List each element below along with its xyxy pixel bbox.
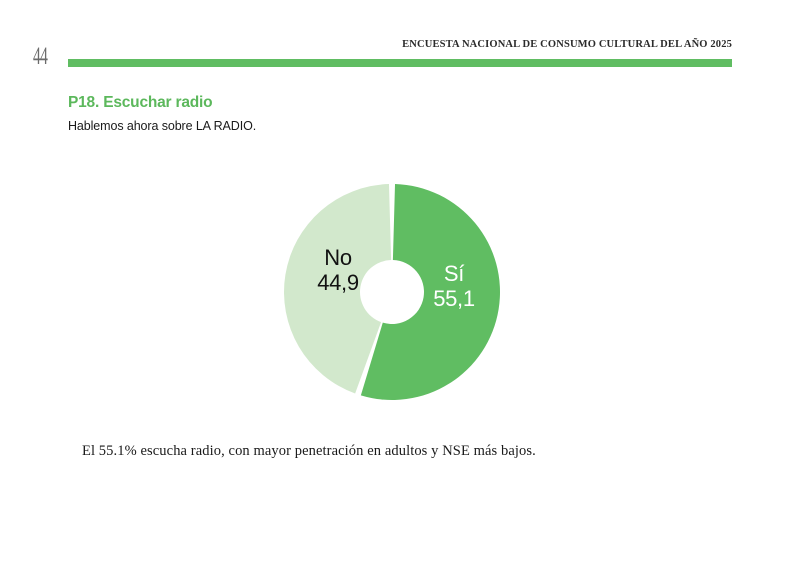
chart-caption: El 55.1% escucha radio, con mayor penetr…: [82, 443, 536, 460]
page-subtitle: Hablemos ahora sobre LA RADIO.: [68, 119, 256, 133]
page-title: P18. Escuchar radio: [68, 94, 212, 112]
donut-label-no: No 44,9: [278, 246, 398, 295]
page-number: 44: [33, 44, 47, 69]
header-rule-divider: [68, 59, 732, 67]
document-header-title: ENCUESTA NACIONAL DE CONSUMO CULTURAL DE…: [402, 39, 732, 50]
donut-label-no-name: No: [278, 246, 398, 271]
donut-label-si-name: Sí: [394, 262, 514, 287]
donut-chart: No 44,9 Sí 55,1: [284, 184, 500, 400]
donut-label-no-value: 44,9: [278, 271, 398, 296]
donut-label-si-value: 55,1: [394, 287, 514, 312]
donut-label-si: Sí 55,1: [394, 262, 514, 311]
